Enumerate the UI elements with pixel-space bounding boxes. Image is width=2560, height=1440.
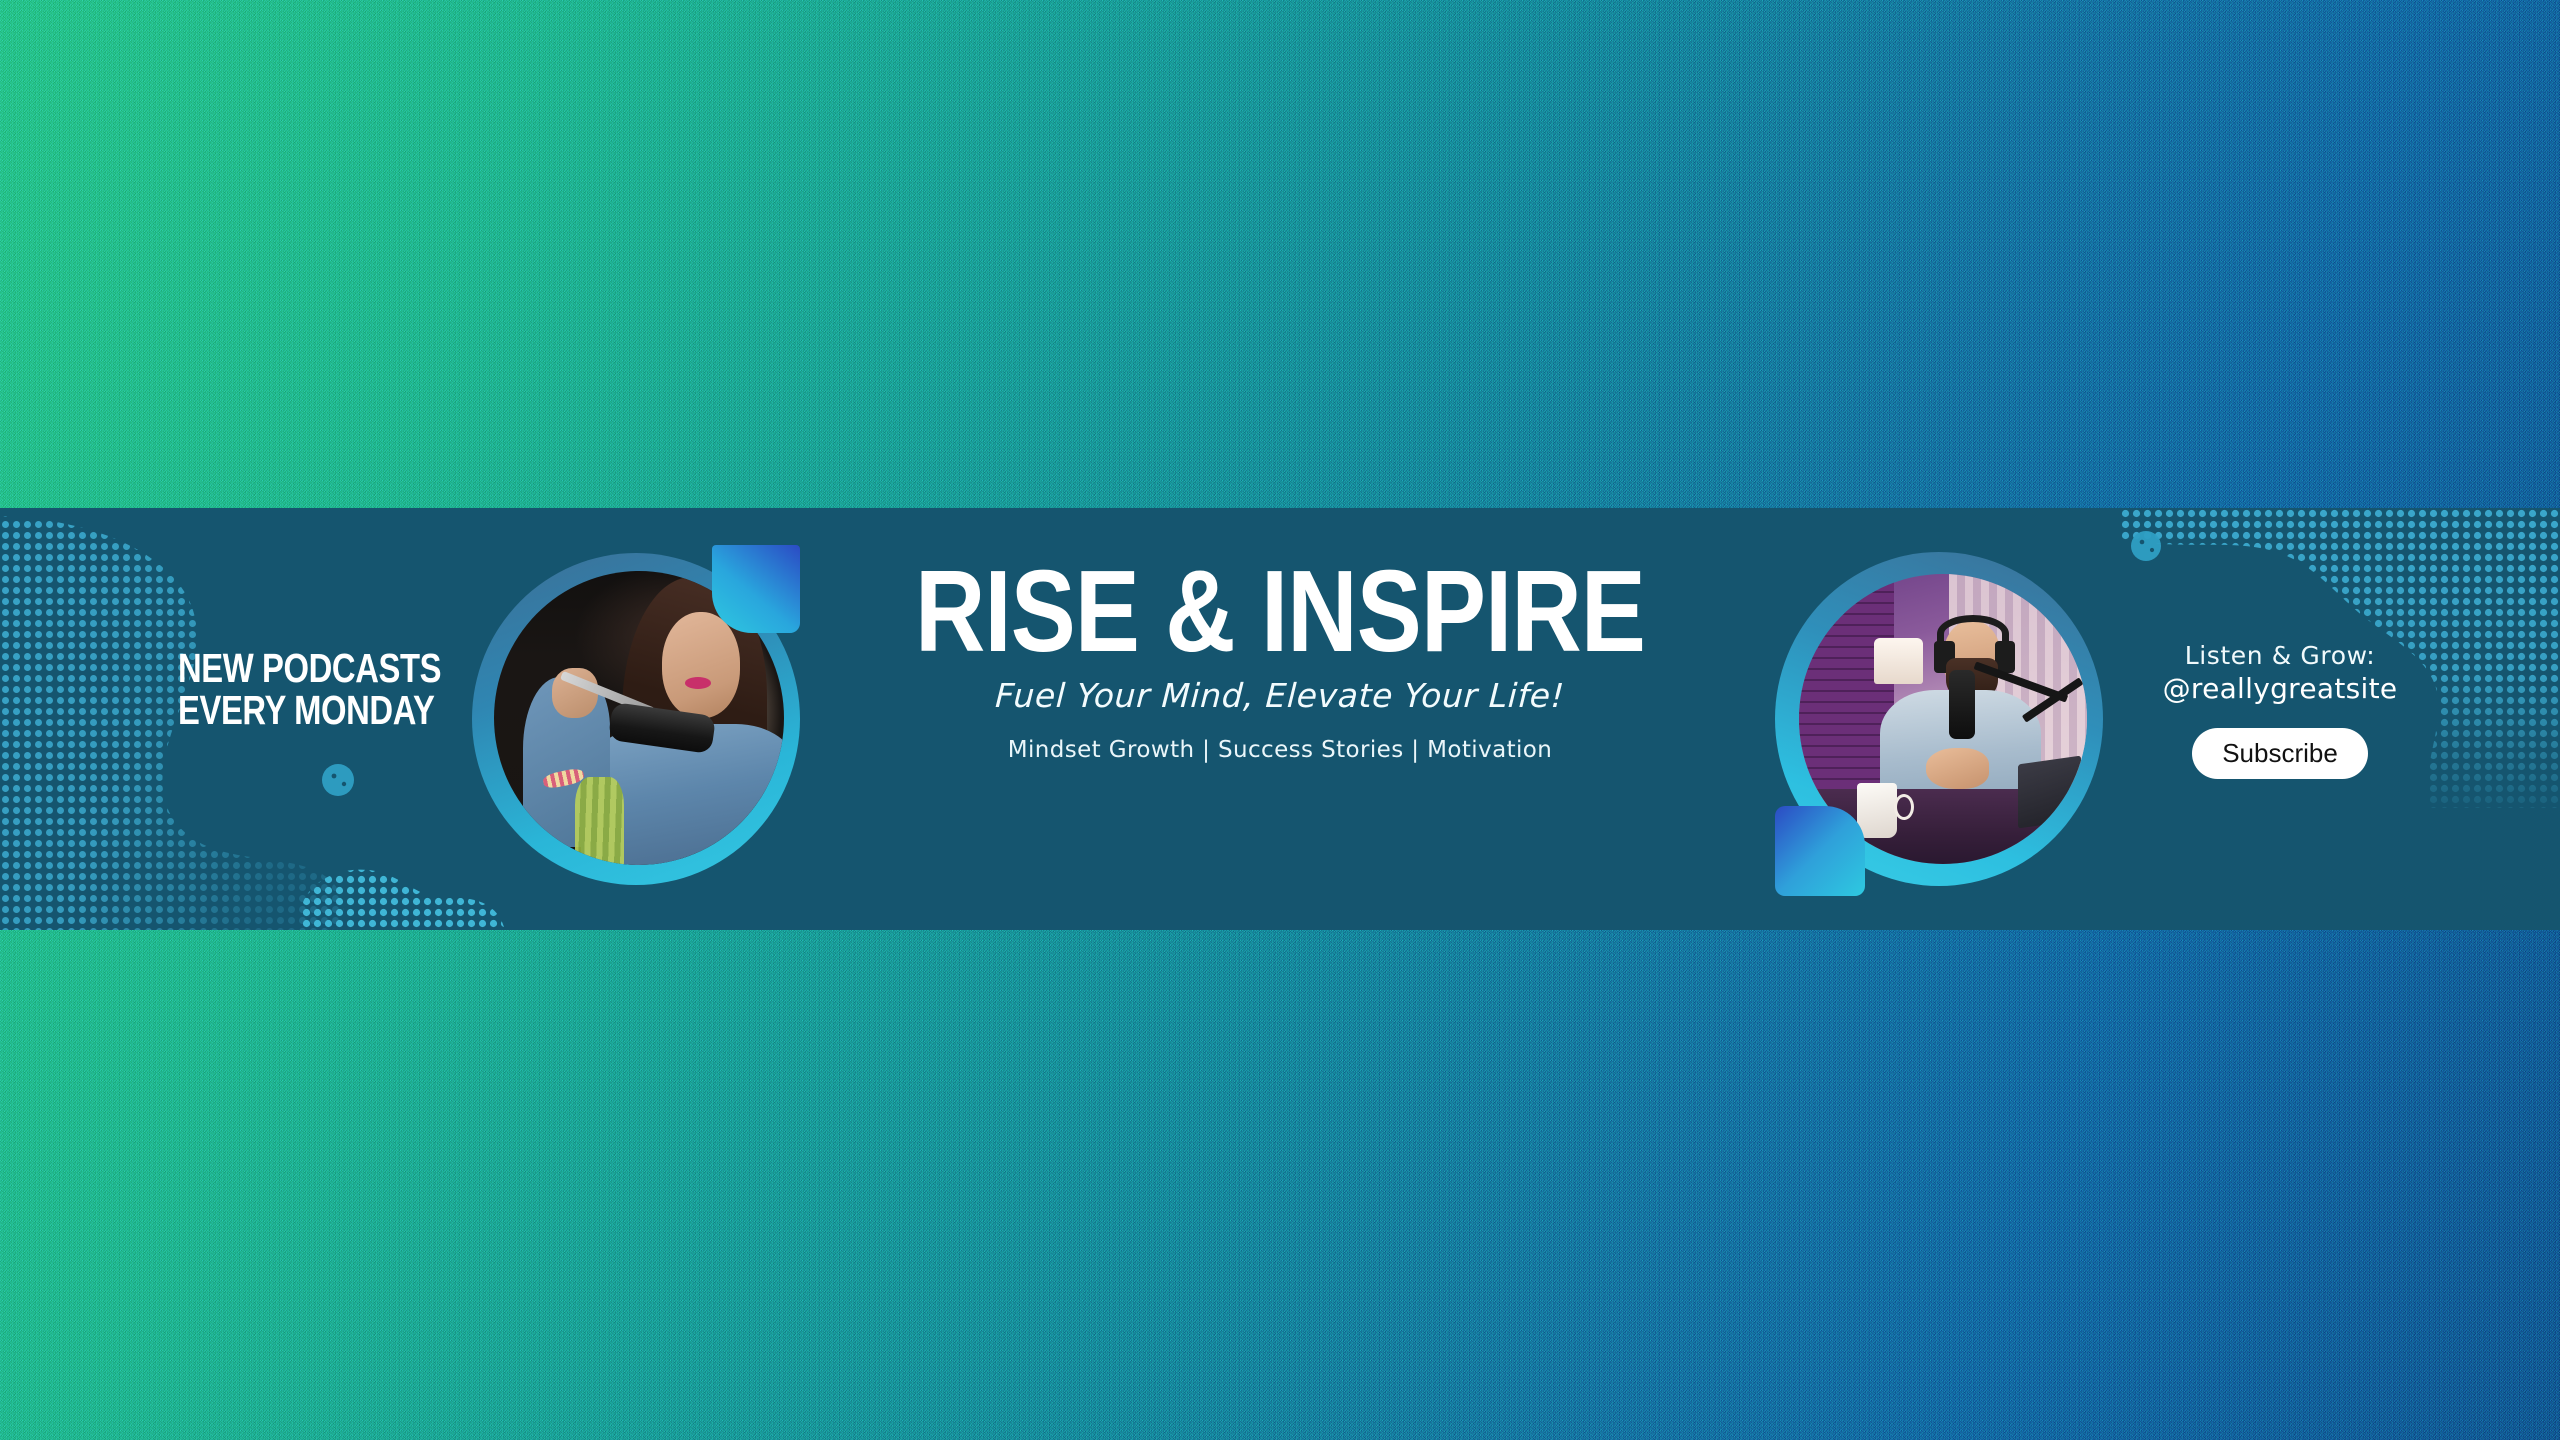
- accent-square-right: [1775, 806, 1865, 896]
- accent-square-left: [712, 545, 800, 633]
- kicker-text: NEW PODCASTS EVERY MONDAY: [178, 648, 402, 732]
- subscribe-button[interactable]: Subscribe: [2192, 728, 2368, 779]
- banner-canvas: NEW PODCASTS EVERY MONDAY: [0, 0, 2560, 1440]
- cta-handle: @reallygreatsite: [2125, 672, 2435, 706]
- cta-tagline: Listen & Grow:: [2125, 640, 2435, 672]
- kicker-line-2: EVERY MONDAY: [178, 690, 402, 732]
- cta-block: Listen & Grow: @reallygreatsite Subscrib…: [2125, 640, 2435, 779]
- center-text-block: RISE & INSPIRE Fuel Your Mind, Elevate Y…: [840, 560, 1720, 763]
- kicker-line-1: NEW PODCASTS: [178, 648, 402, 690]
- banner-topics: Mindset Growth | Success Stories | Motiv…: [840, 737, 1720, 763]
- photo-left-wrapper: [472, 545, 800, 893]
- banner-title: RISE & INSPIRE: [910, 560, 1649, 662]
- photo-right-wrapper: [1775, 548, 2105, 896]
- banner-tagline: Fuel Your Mind, Elevate Your Life!: [839, 676, 1721, 715]
